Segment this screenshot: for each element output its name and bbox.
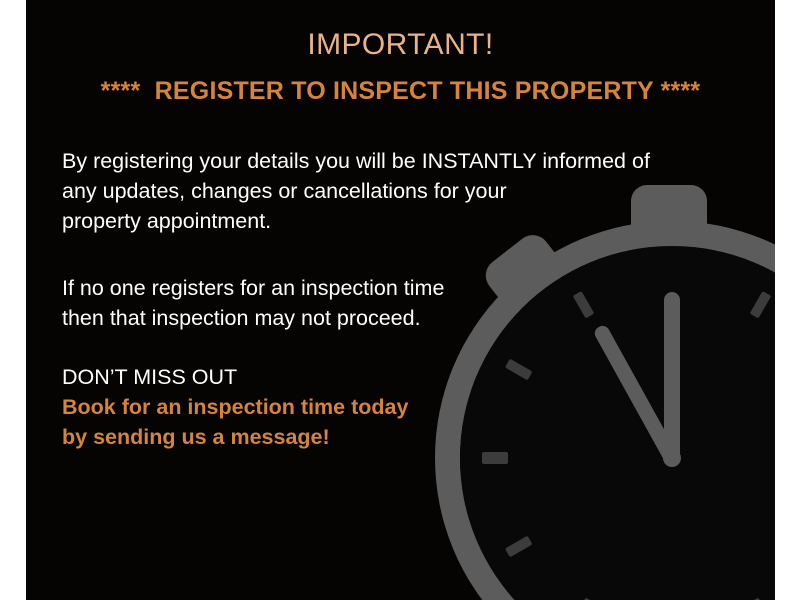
content-panel: IMPORTANT! **** REGISTER TO INSPECT THIS…	[26, 0, 775, 600]
cta-book-inspection: Book for an inspection time today	[62, 392, 742, 422]
slide-canvas: IMPORTANT! **** REGISTER TO INSPECT THIS…	[0, 0, 800, 600]
headline-important: IMPORTANT!	[26, 28, 775, 61]
cta-dont-miss-out: DON’T MISS OUT	[62, 362, 742, 392]
headline-register: **** REGISTER TO INSPECT THIS PROPERTY *…	[26, 76, 775, 106]
cta-send-message: by sending us a message!	[62, 422, 742, 452]
paragraph-no-registration-warning: If no one registers for an inspection ti…	[62, 273, 742, 333]
call-to-action-block: DON’T MISS OUT Book for an inspection ti…	[62, 362, 742, 452]
paragraph-registering-benefits: By registering your details you will be …	[62, 146, 742, 236]
